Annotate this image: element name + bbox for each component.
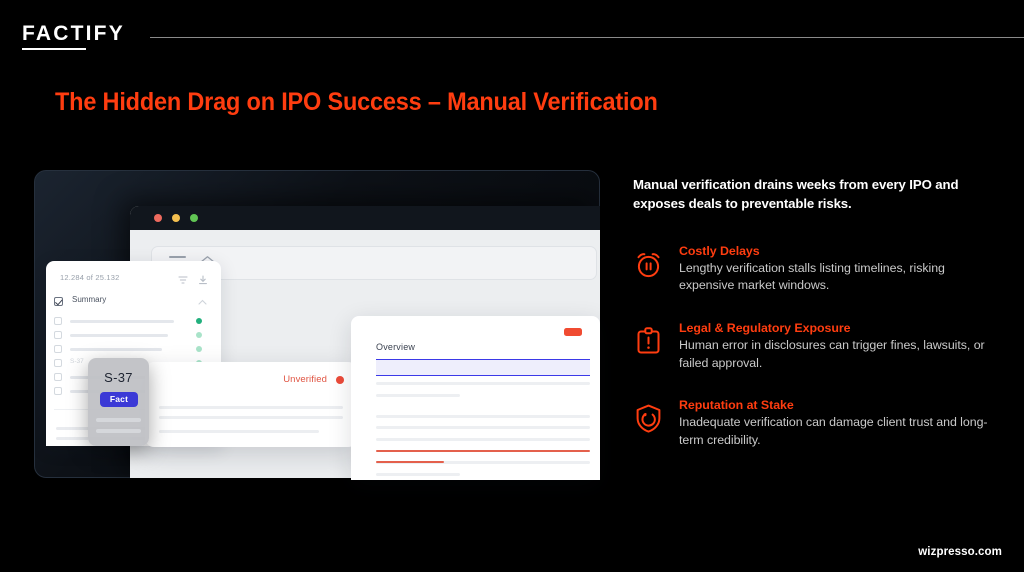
row-status-dot bbox=[196, 332, 202, 338]
overview-flagged-bar bbox=[376, 461, 444, 463]
callout-placeholder-bar bbox=[159, 406, 343, 409]
feature-text: Legal & Regulatory Exposure Human error … bbox=[679, 321, 993, 372]
window-close-dot[interactable] bbox=[154, 214, 162, 222]
brand-logo-ify: IFY bbox=[86, 22, 125, 45]
row-placeholder-bar bbox=[70, 320, 174, 323]
clipboard-alert-icon bbox=[633, 326, 664, 357]
feature-list: Costly Delays Lengthy verification stall… bbox=[633, 244, 993, 450]
callout-placeholder-bar bbox=[159, 416, 343, 419]
feature-description: Lengthy verification stalls listing time… bbox=[679, 260, 993, 295]
unverified-callout-card: Unverified bbox=[145, 362, 357, 447]
filter-icon[interactable] bbox=[178, 275, 188, 285]
list-item[interactable] bbox=[46, 317, 221, 325]
overview-placeholder-bar bbox=[376, 382, 590, 385]
row-status-dot bbox=[196, 318, 202, 324]
list-item[interactable] bbox=[46, 345, 221, 353]
brand-logo-fact: FACT bbox=[22, 22, 86, 50]
row-status-dot bbox=[196, 346, 202, 352]
window-minimize-dot[interactable] bbox=[172, 214, 180, 222]
lede-paragraph: Manual verification drains weeks from ev… bbox=[633, 175, 993, 214]
row-checkbox[interactable] bbox=[54, 331, 62, 339]
s37-document-card[interactable]: S-37 Fact bbox=[88, 358, 149, 446]
row-checkbox[interactable] bbox=[54, 345, 62, 353]
row-placeholder-bar bbox=[70, 348, 162, 351]
highlighted-passage bbox=[376, 359, 590, 376]
feature-title: Costly Delays bbox=[679, 244, 993, 258]
overview-placeholder-bar bbox=[376, 426, 590, 429]
overview-status-badge bbox=[564, 328, 582, 336]
feature-item-legal-exposure: Legal & Regulatory Exposure Human error … bbox=[633, 321, 993, 372]
feature-description: Human error in disclosures can trigger f… bbox=[679, 337, 993, 372]
overview-placeholder-bar bbox=[376, 473, 460, 476]
footer-url[interactable]: wizpresso.com bbox=[918, 546, 1002, 558]
s37-placeholder-bar bbox=[96, 418, 141, 422]
s37-placeholder-bar bbox=[96, 429, 141, 433]
window-maximize-dot[interactable] bbox=[190, 214, 198, 222]
feature-description: Inadequate verification can damage clien… bbox=[679, 414, 993, 449]
unverified-status-dot bbox=[336, 376, 344, 384]
row-checkbox[interactable] bbox=[54, 387, 62, 395]
row-s37-label: S-37 bbox=[70, 358, 84, 365]
feature-title: Reputation at Stake bbox=[679, 398, 993, 412]
feature-item-costly-delays: Costly Delays Lengthy verification stall… bbox=[633, 244, 993, 295]
summary-label: Summary bbox=[72, 295, 106, 304]
overview-placeholder-bar bbox=[376, 415, 590, 418]
unverified-label: Unverified bbox=[283, 374, 327, 385]
page-title: The Hidden Drag on IPO Success – Manual … bbox=[55, 88, 658, 117]
callout-placeholder-bar bbox=[159, 430, 319, 433]
record-count-label: 12.284 of 25.132 bbox=[60, 273, 120, 282]
fact-badge: Fact bbox=[100, 392, 138, 407]
overview-title: Overview bbox=[376, 342, 415, 352]
feature-text: Reputation at Stake Inadequate verificat… bbox=[679, 398, 993, 449]
page-header: FACTIFY bbox=[0, 0, 1024, 62]
product-mockup: 12.284 of 25.132 Summary bbox=[34, 170, 600, 480]
header-divider bbox=[150, 37, 1024, 38]
content-column: Manual verification drains weeks from ev… bbox=[633, 175, 993, 476]
feature-text: Costly Delays Lengthy verification stall… bbox=[679, 244, 993, 295]
browser-titlebar bbox=[130, 206, 600, 230]
row-checkbox[interactable] bbox=[54, 373, 62, 381]
row-checkbox[interactable] bbox=[54, 317, 62, 325]
row-checkbox[interactable] bbox=[54, 359, 62, 367]
summary-checkbox[interactable] bbox=[54, 297, 63, 306]
s37-title: S-37 bbox=[88, 370, 149, 385]
download-icon[interactable] bbox=[198, 275, 208, 285]
feature-item-reputation: Reputation at Stake Inadequate verificat… bbox=[633, 398, 993, 449]
brand-logo[interactable]: FACTIFY bbox=[22, 22, 125, 46]
chevron-up-icon[interactable] bbox=[198, 299, 207, 305]
alarm-clock-pause-icon bbox=[633, 249, 664, 280]
list-item[interactable] bbox=[46, 331, 221, 339]
row-placeholder-bar bbox=[70, 334, 168, 337]
overview-placeholder-bar bbox=[376, 394, 460, 397]
shield-clock-icon bbox=[633, 403, 664, 434]
summary-group-row[interactable]: Summary bbox=[46, 295, 221, 311]
overview-flagged-bar bbox=[376, 450, 590, 452]
overview-placeholder-bar bbox=[376, 438, 590, 441]
feature-title: Legal & Regulatory Exposure bbox=[679, 321, 993, 335]
overview-panel: Overview bbox=[351, 316, 600, 480]
list-tools bbox=[178, 272, 208, 290]
